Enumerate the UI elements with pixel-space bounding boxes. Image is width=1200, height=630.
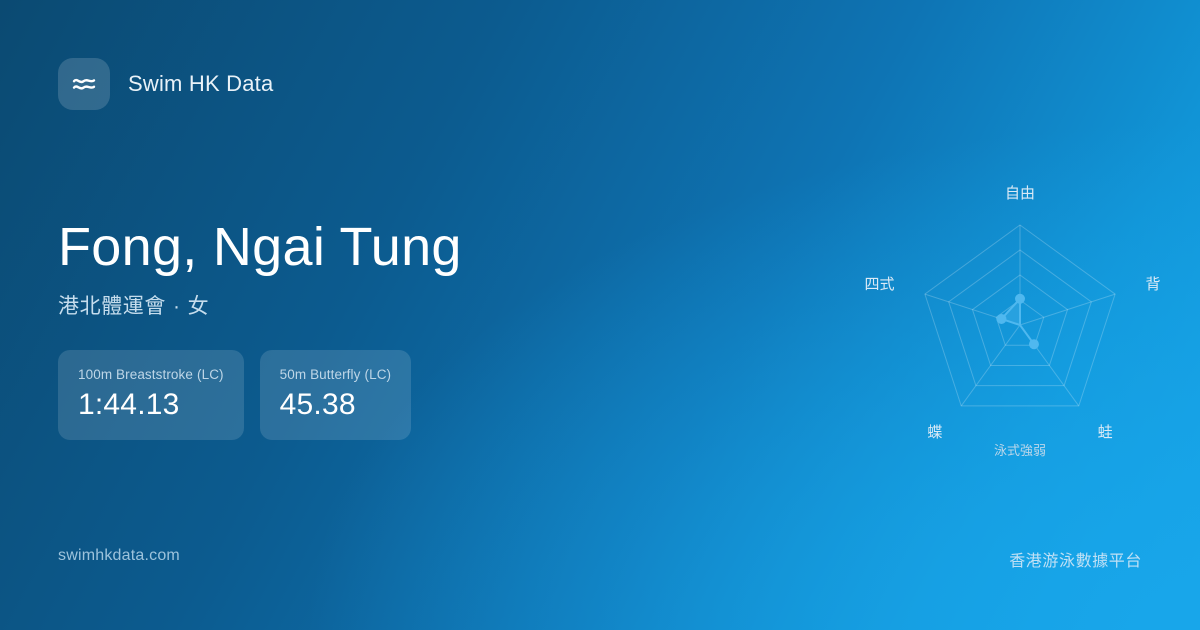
stat-event-name: 100m Breaststroke — [78, 367, 193, 382]
page-title: Fong, Ngai Tung — [58, 218, 462, 276]
radar-point-自由 — [1015, 294, 1025, 304]
athlete-meta: 港北體運會·女 — [58, 290, 462, 320]
stat-event-name: 50m Butterfly — [280, 367, 361, 382]
stat-course-code: (LC) — [197, 367, 224, 382]
stat-time-value: 45.38 — [280, 388, 392, 422]
footer-site-url: swimhkdata.com — [58, 547, 180, 565]
radar-axis-label: 蝶 — [927, 423, 942, 441]
stat-card-row: 100m Breaststroke(LC) 1:44.13 50m Butter… — [58, 350, 411, 440]
radar-axis-label: 四式 — [864, 275, 894, 293]
brand-name: Swim HK Data — [128, 71, 273, 97]
meta-separator: · — [166, 295, 188, 318]
radar-axis-label: 背 — [1146, 275, 1161, 293]
stat-course-code: (LC) — [365, 367, 392, 382]
stroke-strength-radar-chart: 自由背蛙蝶四式 泳式強弱 — [870, 160, 1170, 480]
stat-card: 100m Breaststroke(LC) 1:44.13 — [58, 350, 244, 440]
radar-data-area — [1001, 299, 1034, 344]
radar-caption: 泳式強弱 — [994, 444, 1046, 459]
footer-tagline: 香港游泳數據平台 — [1009, 547, 1142, 571]
share-card-canvas: Swim HK Data Fong, Ngai Tung 港北體運會·女 100… — [0, 0, 1200, 630]
athlete-club: 港北體運會 — [58, 295, 166, 318]
stat-time-value: 1:44.13 — [78, 388, 224, 422]
stat-event-label: 100m Breaststroke(LC) — [78, 367, 224, 382]
athlete-gender: 女 — [188, 295, 210, 318]
radar-point-蛙 — [1029, 339, 1039, 349]
wave-approx-icon — [58, 58, 110, 110]
athlete-hero: Fong, Ngai Tung 港北體運會·女 — [58, 218, 462, 320]
radar-axis-label: 自由 — [1005, 184, 1035, 202]
stat-card: 50m Butterfly(LC) 45.38 — [260, 350, 412, 440]
brand-header: Swim HK Data — [58, 58, 273, 110]
radar-axis-label: 蛙 — [1098, 423, 1113, 441]
radar-point-四式 — [996, 314, 1006, 324]
stat-event-label: 50m Butterfly(LC) — [280, 367, 392, 382]
